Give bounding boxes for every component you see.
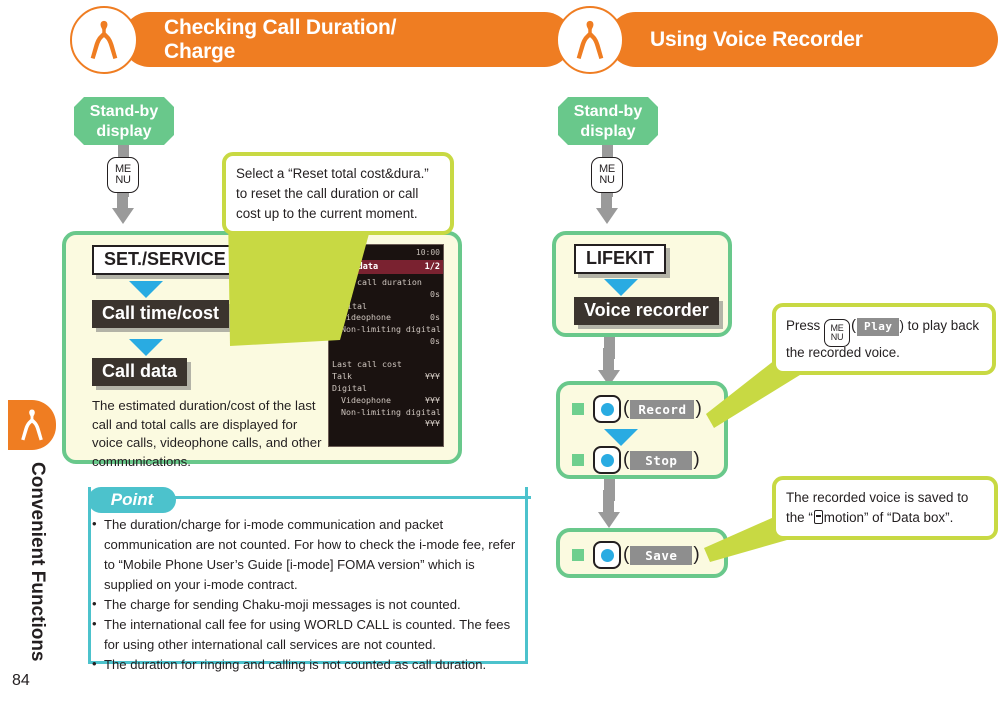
- menu-key-icon-2: MENU: [591, 157, 623, 193]
- phone-row-value: 0s: [430, 336, 440, 348]
- section-icon-badge: [70, 6, 138, 74]
- center-key-icon[interactable]: [593, 541, 621, 569]
- section-icon-badge-2: [556, 6, 624, 74]
- sidebar-chapter-label: Convenient Functions: [14, 462, 48, 662]
- phone-row-value: ¥¥¥: [425, 395, 440, 407]
- phone-screen-row: Digital: [332, 383, 440, 395]
- callout-save-post: motion” of “Data box”.: [824, 510, 954, 525]
- key-step-save[interactable]: ( Save ): [572, 541, 701, 569]
- phone-row-value: 0s: [430, 312, 440, 324]
- i-motion-icon: [814, 510, 823, 524]
- phone-row-label: Non-limiting digital: [341, 407, 441, 419]
- point-list-item: The duration/charge for i-mode communica…: [92, 515, 522, 595]
- phone-screen-row: Non-limiting digital: [332, 407, 440, 419]
- softkey-play: Play: [857, 318, 900, 336]
- callout-saved-location: The recorded voice is saved to the “moti…: [772, 476, 998, 540]
- phone-screen-row: ¥¥¥: [332, 418, 440, 430]
- standby-display-badge-1: Stand-bydisplay: [74, 97, 174, 145]
- callout-play-pre: Press: [786, 318, 824, 333]
- flow-arrow-4: [604, 429, 638, 446]
- connector-arrow-4: [598, 490, 630, 530]
- call-data-description: The estimated duration/cost of the last …: [92, 397, 322, 472]
- standby-display-badge-2: Stand-bydisplay: [558, 97, 658, 145]
- pliers-icon: [574, 19, 606, 61]
- step-box-lifekit: LIFEKIT Voice recorder: [552, 231, 732, 337]
- center-key-icon[interactable]: [593, 395, 621, 423]
- phone-row-value: 0s: [430, 289, 440, 301]
- sidebar-chapter-tab: [8, 400, 56, 450]
- pliers-icon: [19, 408, 45, 442]
- softkey-stop[interactable]: Stop: [630, 451, 692, 470]
- phone-row-label: Videophone: [341, 395, 391, 407]
- center-key-icon[interactable]: [593, 446, 621, 474]
- flow-arrow-3: [604, 279, 638, 296]
- phone-status-right: 10:00: [416, 248, 440, 257]
- section-title-bar: Checking Call Duration/ Charge: [122, 12, 572, 67]
- phone-row-label: Digital: [332, 383, 367, 395]
- pliers-icon: [88, 19, 120, 61]
- softkey-record[interactable]: Record: [630, 400, 694, 419]
- point-rule: [160, 496, 531, 499]
- menu-key-icon-inline: MENU: [824, 319, 850, 347]
- softkey-save[interactable]: Save: [630, 546, 692, 565]
- phone-row-label: [341, 418, 346, 430]
- page-title-2: Using Voice Recorder: [650, 28, 863, 52]
- phone-screen-row: Videophone¥¥¥: [332, 395, 440, 407]
- phone-row-label: Last call cost: [332, 359, 402, 371]
- callout-reset-cost: Select a “Reset total cost&dura.” to res…: [222, 152, 454, 235]
- phone-screen-row: Last call cost: [332, 359, 440, 371]
- green-square-bullet: [572, 549, 584, 561]
- point-list-item: The international call fee for using WOR…: [92, 615, 522, 655]
- key-step-record[interactable]: ( Record ): [572, 395, 703, 423]
- point-list-item: The charge for sending Chaku-moji messag…: [92, 595, 522, 615]
- point-list: The duration/charge for i-mode communica…: [92, 515, 522, 675]
- menu-item-voice-recorder[interactable]: Voice recorder: [574, 297, 719, 325]
- point-badge: Point: [88, 487, 176, 513]
- menu-item-call-data[interactable]: Call data: [92, 358, 187, 386]
- menu-item-lifekit[interactable]: LIFEKIT: [574, 244, 666, 274]
- phone-row-value: ¥¥¥: [425, 371, 440, 383]
- green-square-bullet: [572, 454, 584, 466]
- page-number: 84: [12, 672, 30, 690]
- key-step-stop[interactable]: ( Stop ): [572, 446, 701, 474]
- phone-screen-row: Talk¥¥¥: [332, 371, 440, 383]
- page-title: Checking Call Duration/ Charge: [164, 16, 396, 63]
- phone-row-value: ¥¥¥: [425, 418, 440, 430]
- green-square-bullet: [572, 403, 584, 415]
- point-list-item: The duration for ringing and calling is …: [92, 655, 522, 675]
- phone-page-indicator: 1/2: [425, 262, 440, 272]
- menu-key-icon-1: MENU: [107, 157, 139, 193]
- phone-row-label: Talk: [332, 371, 352, 383]
- callout-play-back: Press MENU(Play) to play back the record…: [772, 303, 996, 375]
- section-title-bar-2: Using Voice Recorder: [608, 12, 998, 67]
